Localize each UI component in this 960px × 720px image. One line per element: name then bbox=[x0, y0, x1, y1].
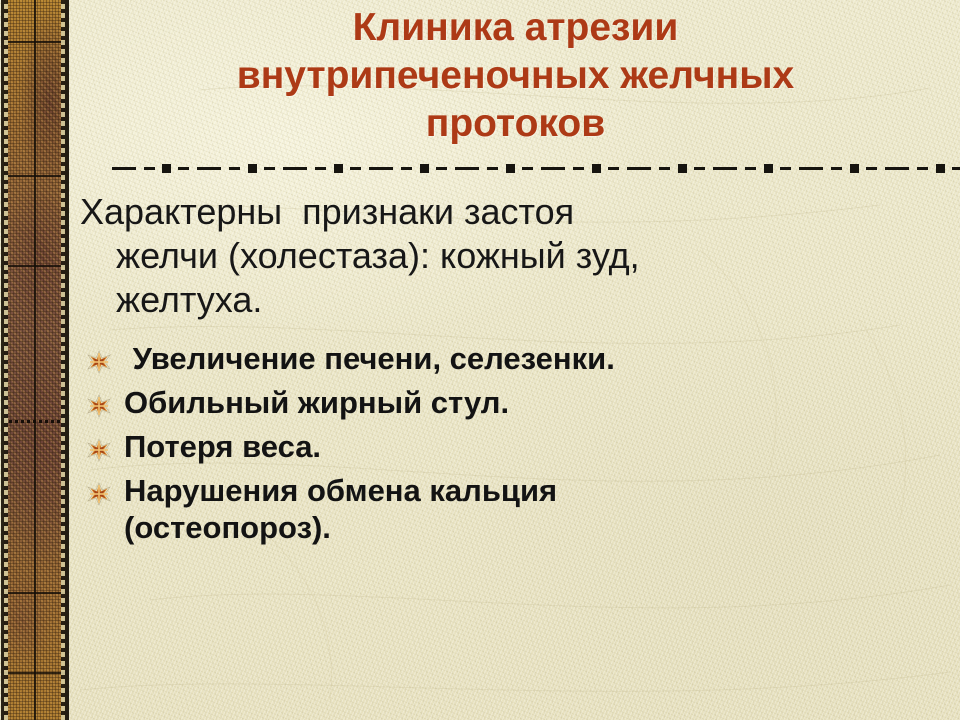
band-vertical-rule bbox=[34, 0, 36, 720]
slide-content: Клиника атрезии внутрипеченочных желчных… bbox=[71, 0, 960, 720]
slide-title-line-1: Клиника атрезии bbox=[77, 4, 954, 52]
star-burst-bullet-icon bbox=[87, 345, 111, 369]
star-burst-bullet-icon bbox=[87, 433, 111, 457]
band-edge-ticks-left bbox=[4, 0, 8, 720]
band-horizontal-rule bbox=[4, 592, 65, 594]
band-horizontal-rule bbox=[4, 175, 65, 177]
list-item-label: Нарушения обмена кальция bbox=[124, 473, 557, 508]
band-horizontal-rule bbox=[4, 265, 65, 267]
lead-line-2: желчи (холестаза): кожный зуд, bbox=[80, 234, 946, 278]
list-item: Нарушения обмена кальция (остеопороз). bbox=[71, 472, 960, 546]
band-texture-frame bbox=[1, 0, 69, 720]
slide-title-line-3: протоков bbox=[77, 100, 954, 148]
slide-title: Клиника атрезии внутрипеченочных желчных… bbox=[77, 4, 954, 148]
symptom-list: Увеличение печени, селезенки. bbox=[71, 340, 960, 546]
list-item: Потеря веса. bbox=[71, 428, 960, 465]
band-edge-ticks-right bbox=[61, 0, 65, 720]
star-burst-bullet-icon bbox=[87, 477, 111, 501]
list-item-label: Увеличение печени, селезенки. bbox=[124, 340, 960, 377]
slide-title-line-2: внутрипеченочных желчных bbox=[77, 52, 954, 100]
list-item: Обильный жирный стул. bbox=[71, 384, 960, 421]
lead-line-3: желтуха. bbox=[80, 278, 946, 322]
star-burst-bullet-icon bbox=[87, 389, 111, 413]
list-item-label-continued: (остеопороз). bbox=[124, 509, 960, 546]
band-horizontal-rule bbox=[4, 41, 65, 43]
slide-canvas: Клиника атрезии внутрипеченочных желчных… bbox=[0, 0, 960, 720]
title-divider bbox=[112, 164, 960, 173]
lead-paragraph: Характерны признаки застоя желчи (холест… bbox=[71, 190, 960, 322]
list-item-label: Потеря веса. bbox=[124, 428, 960, 465]
band-horizontal-rule bbox=[4, 672, 65, 674]
list-item: Увеличение печени, селезенки. bbox=[71, 340, 960, 377]
lead-line-1: Характерны признаки застоя bbox=[80, 191, 574, 232]
band-horizontal-rule-dotted bbox=[4, 420, 65, 423]
slide-body: Характерны признаки застоя желчи (холест… bbox=[71, 190, 960, 553]
decorative-left-band bbox=[0, 0, 71, 720]
list-item-label: Обильный жирный стул. bbox=[124, 384, 960, 421]
